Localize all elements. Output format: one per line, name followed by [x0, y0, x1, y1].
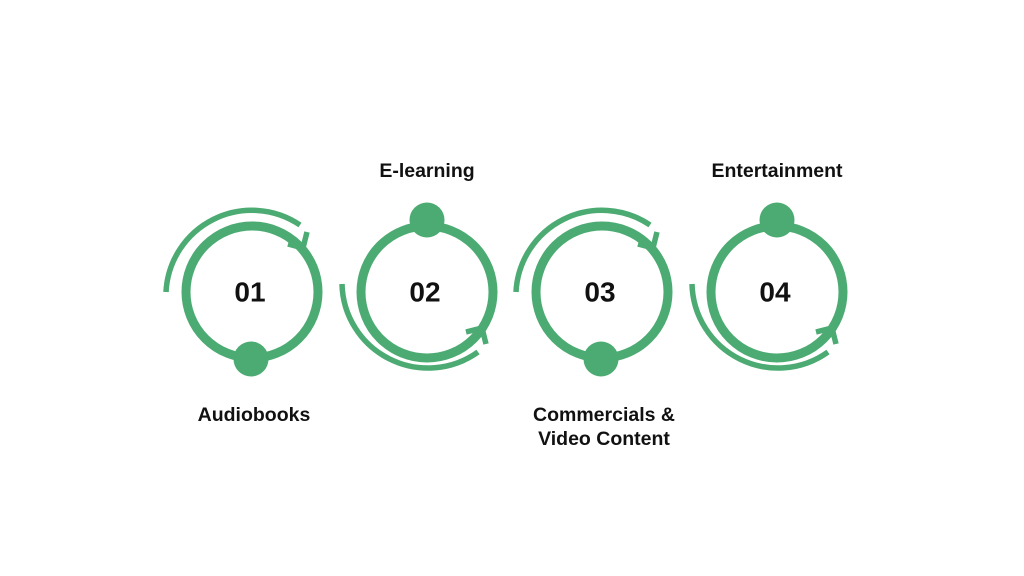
step-number-02: 02	[409, 276, 440, 307]
step-group-02[interactable]: 02 E-learning	[342, 160, 493, 368]
step-group-01[interactable]: 01 Audiobooks	[166, 210, 318, 426]
step-group-03[interactable]: 03 Commercials & Video Content	[516, 210, 675, 450]
step-number-01: 01	[234, 276, 265, 307]
step-label-03-line1: Commercials &	[533, 404, 675, 426]
diagram-canvas: 01 Audiobooks 02 E-learning 03 Commercia…	[0, 0, 1024, 576]
step-dot-01	[234, 342, 269, 377]
step-dot-02	[410, 203, 445, 238]
step-number-03: 03	[584, 276, 615, 307]
step-label-04: Entertainment	[711, 160, 843, 182]
step-label-03-line2: Video Content	[538, 428, 670, 450]
step-number-04: 04	[759, 276, 791, 307]
process-diagram: 01 Audiobooks 02 E-learning 03 Commercia…	[0, 0, 1024, 576]
step-dot-04	[760, 203, 795, 238]
step-dot-03	[584, 342, 619, 377]
step-label-02: E-learning	[379, 160, 474, 182]
step-label-01: Audiobooks	[198, 404, 311, 426]
step-group-04[interactable]: 04 Entertainment	[692, 160, 843, 368]
